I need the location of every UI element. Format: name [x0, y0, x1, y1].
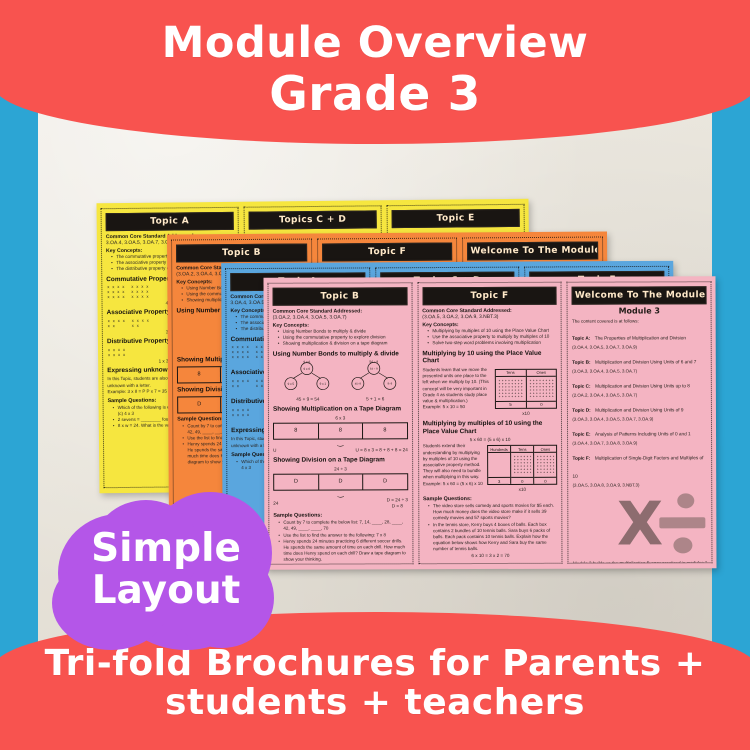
list-item: Henry spends 24 minutes practicing 6 dif… [278, 538, 408, 563]
svg-text:45÷9: 45÷9 [355, 382, 362, 386]
key-concepts-list: Multiplying by multiples of 10 using the… [427, 328, 557, 347]
tape-cell: 8 [274, 424, 319, 439]
equation: D = 8 [387, 504, 408, 509]
number-bond-left: 9 x 6 9 x 6 9 x 5 9 x 1 [279, 360, 333, 394]
topic-codes: (3.OA.5, 3.OA.8, 3.OA.9, 3.NBT.3) [573, 482, 708, 487]
brochure-pink[interactable]: Topic B Common Core Standard Addressed: … [263, 276, 716, 570]
chart-note: x10 [495, 411, 558, 416]
topic-desc: Multiplication and Division Using Units … [595, 384, 690, 389]
panel-title: Topics C + D [249, 210, 377, 229]
tape-cell: D [319, 474, 364, 489]
sample-questions-label: Sample Questions: [273, 513, 408, 519]
chart-footer: 0 [534, 477, 556, 484]
panel-topic-f[interactable]: Topic F Common Core Standard Addressed: … [417, 282, 563, 565]
wordart-badges [659, 491, 705, 555]
badge-line-1: Simple [91, 530, 241, 568]
topic-codes: (3.OA.4, 3.OA.7, 3.OA.8, 3.OA.9) [572, 440, 707, 445]
place-value-chart-1: Tens 5 Ones 0 [494, 369, 557, 409]
intro-text: The content covered is at follows: [572, 318, 707, 325]
tape-label: 6 x 3 [273, 415, 408, 420]
tape-diagram-division: D D D [273, 473, 408, 490]
tape-cell: D [274, 474, 319, 489]
list-item: Solve two-step word problems involving m… [427, 340, 557, 347]
wordart-letter: X [617, 495, 663, 555]
word-cloud-graphic: X [573, 491, 708, 557]
top-banner: Module Overview Grade 3 [0, 0, 750, 144]
section-heading: Multiplying by 10 using the Place Value … [422, 349, 557, 365]
equation: U = 8 x 3 = 8 + 8 + 8 = 24 [356, 447, 408, 452]
svg-text:9 x 5: 9 x 5 [287, 382, 294, 386]
tape-cell: 8 [178, 367, 221, 382]
svg-text:9÷9: 9÷9 [388, 382, 393, 386]
panel-title: Welcome To The Module [572, 286, 707, 304]
topic-codes: (3.OA.3, 3.OA.4, 3.OA.5, 3.OA.7, 3.OA.9) [572, 416, 707, 421]
tape-diagram-multiplication: 8 8 8 [273, 422, 408, 439]
topic-codes: (3.OA.4, 3.OA.5, 3.OA.7, 3.OA.9) [572, 344, 707, 349]
panel-title: Topic B [176, 244, 307, 263]
brace-label: U [273, 448, 276, 453]
list-item: Topic F: Multiplication of Single-Digit … [572, 446, 707, 487]
title-line-1: Module Overview [162, 22, 589, 65]
list-item: Topic E: Analysis of Patterns Including … [572, 422, 707, 445]
sample-questions-list: The video store sells comedy and sports … [428, 503, 558, 552]
unit-dots [536, 455, 554, 475]
equation: 5 x 60 = (5 x 6) x 10 [423, 437, 558, 442]
chart-footer: 0 [526, 401, 556, 408]
equation: 45 + 9 = 54 [296, 397, 319, 402]
list-item: The video store sells comedy and sports … [428, 503, 558, 522]
topic-label: Topic A: [572, 336, 590, 341]
tape-cell: D [363, 474, 407, 489]
list-item: In the tennis store, Kerry buys 4 boxes … [428, 521, 558, 552]
section-body: Students learn that we move the presente… [422, 367, 491, 404]
ccs-codes: (3.OA.2, 3.OA.4, 3.OA.5, 3.OA.7) [273, 314, 408, 320]
list-item: Showing multiplication & division on a t… [278, 341, 408, 348]
topic-codes: (2.OA.2, 3.OA.4, 3.OA.5, 3.OA.7) [572, 392, 707, 397]
section-body: Students extend their understanding by m… [423, 443, 484, 480]
badge-line-2: Layout [92, 572, 241, 610]
topic-label: Topic C: [572, 384, 590, 389]
panel-title: Topic E [392, 209, 520, 228]
section-heading: Showing Multiplication on a Tape Diagram [273, 406, 408, 414]
topic-label: Topic D: [572, 408, 590, 413]
topic-label: Topic F: [572, 456, 590, 461]
tape-cell: 8 [319, 423, 364, 438]
chart-header: Hundreds [488, 446, 510, 453]
unit-dots [497, 379, 523, 399]
topic-desc: Multiplication and Division Using Units … [595, 408, 683, 413]
panel-welcome[interactable]: Welcome To The Module Module 3 The conte… [567, 281, 713, 564]
section-heading: Multiplying by multiples of 10 using the… [423, 420, 558, 436]
panel-title: Topic A [106, 212, 234, 231]
list-item: Topic D: Multiplication and Division Usi… [572, 398, 707, 421]
number-bond-diagrams: 9 x 6 9 x 6 9 x 5 9 x 1 54 ÷ 9 54 ÷ 9 [273, 360, 408, 394]
key-concepts-list: Using Number Bonds to multiply & divide … [278, 328, 408, 347]
chart-footer: 3 [488, 477, 510, 484]
section-heading: Showing Division on a Tape Diagram [273, 456, 408, 464]
list-item: Topic A: The Properties of Multiplicatio… [572, 326, 707, 349]
equation: D = 24 ÷ 3 [387, 498, 408, 503]
title-line-2: Grade 3 [269, 71, 481, 118]
list-item: Topic C: Multiplication and Division Usi… [572, 374, 707, 397]
list-item: Count by 7 to complete the below list: 7… [278, 520, 408, 533]
equation: 5 + 1 = 6 [366, 397, 384, 402]
tape-cell: 8 [363, 423, 407, 438]
sample-questions-label: Sample Questions: [423, 496, 558, 502]
panel-title: Topic B [273, 287, 408, 305]
number-bond-right: 54 ÷ 9 54 ÷ 9 45÷9 9÷9 [347, 360, 401, 394]
topics-list: Topic A: The Properties of Multiplicatio… [572, 326, 707, 487]
sample-questions-list: Count by 7 to complete the below list: 7… [278, 520, 408, 563]
tape-label: 24 ÷ 3 [273, 466, 408, 471]
closing-equation: 6 x 10 = 3 x 2 = 70 [423, 553, 558, 558]
chart-footer: 5 [496, 401, 526, 408]
list-item: Topic B: Multiplication and Division Usi… [572, 350, 707, 373]
svg-text:9 x 6: 9 x 6 [303, 367, 310, 371]
chart-footer: 0 [511, 477, 533, 484]
topic-label: Topic E: [572, 432, 590, 437]
badge-text: Simple Layout [52, 486, 280, 654]
chart-note: x10 [487, 487, 557, 492]
topic-desc: Multiplication and Division Using Units … [595, 359, 696, 364]
tape-cell: D [178, 397, 221, 412]
module-subtitle: Module 3 [572, 306, 707, 315]
panel-title: Topic F [422, 287, 557, 305]
topic-label: Topic B: [572, 360, 590, 365]
topic-desc: Multiplication of Single-Digit Factors a… [573, 455, 704, 478]
svg-text:54 ÷ 9: 54 ÷ 9 [370, 367, 378, 371]
place-value-chart-2: Hundreds 3 Tens 0 Ones 0 [487, 445, 558, 485]
panel-title: Topic F [322, 243, 453, 262]
panel-title: Welcome To The Module [467, 242, 598, 261]
subtitle-line-2: students + teachers [165, 685, 585, 721]
panel-topic-b[interactable]: Topic B Common Core Standard Addressed: … [268, 282, 414, 565]
section-example: Example: 5 x 60 = (5 x 6) x 10 [423, 481, 484, 487]
topic-desc: The Properties of Multiplication and Div… [595, 336, 686, 341]
section-heading: Using Number Bonds to multiply & divide [273, 350, 408, 358]
unit-dots [513, 455, 531, 475]
paragraph: Module 3 builds on the multiplication fl… [573, 560, 708, 563]
simple-layout-badge: Simple Layout [52, 486, 280, 654]
unit-dots [528, 379, 554, 399]
ccs-codes: (3.OA.5, 3.OA.2, 3.OA.9, 3.NBT.3) [422, 314, 557, 320]
topic-codes: (3.OA.3, 3.OA.4, 3.OA.5, 3.OA.7) [572, 368, 707, 373]
svg-text:9 x 1: 9 x 1 [319, 382, 326, 386]
closing-paragraphs: Module 3 builds on the multiplication fl… [573, 560, 708, 563]
topic-desc: Analysis of Patterns Including Units of … [595, 432, 691, 437]
poster-canvas: Topic A Common Core Standard Addressed: … [0, 0, 750, 750]
section-example: Example: 5 x 10 = 50 [423, 404, 492, 410]
